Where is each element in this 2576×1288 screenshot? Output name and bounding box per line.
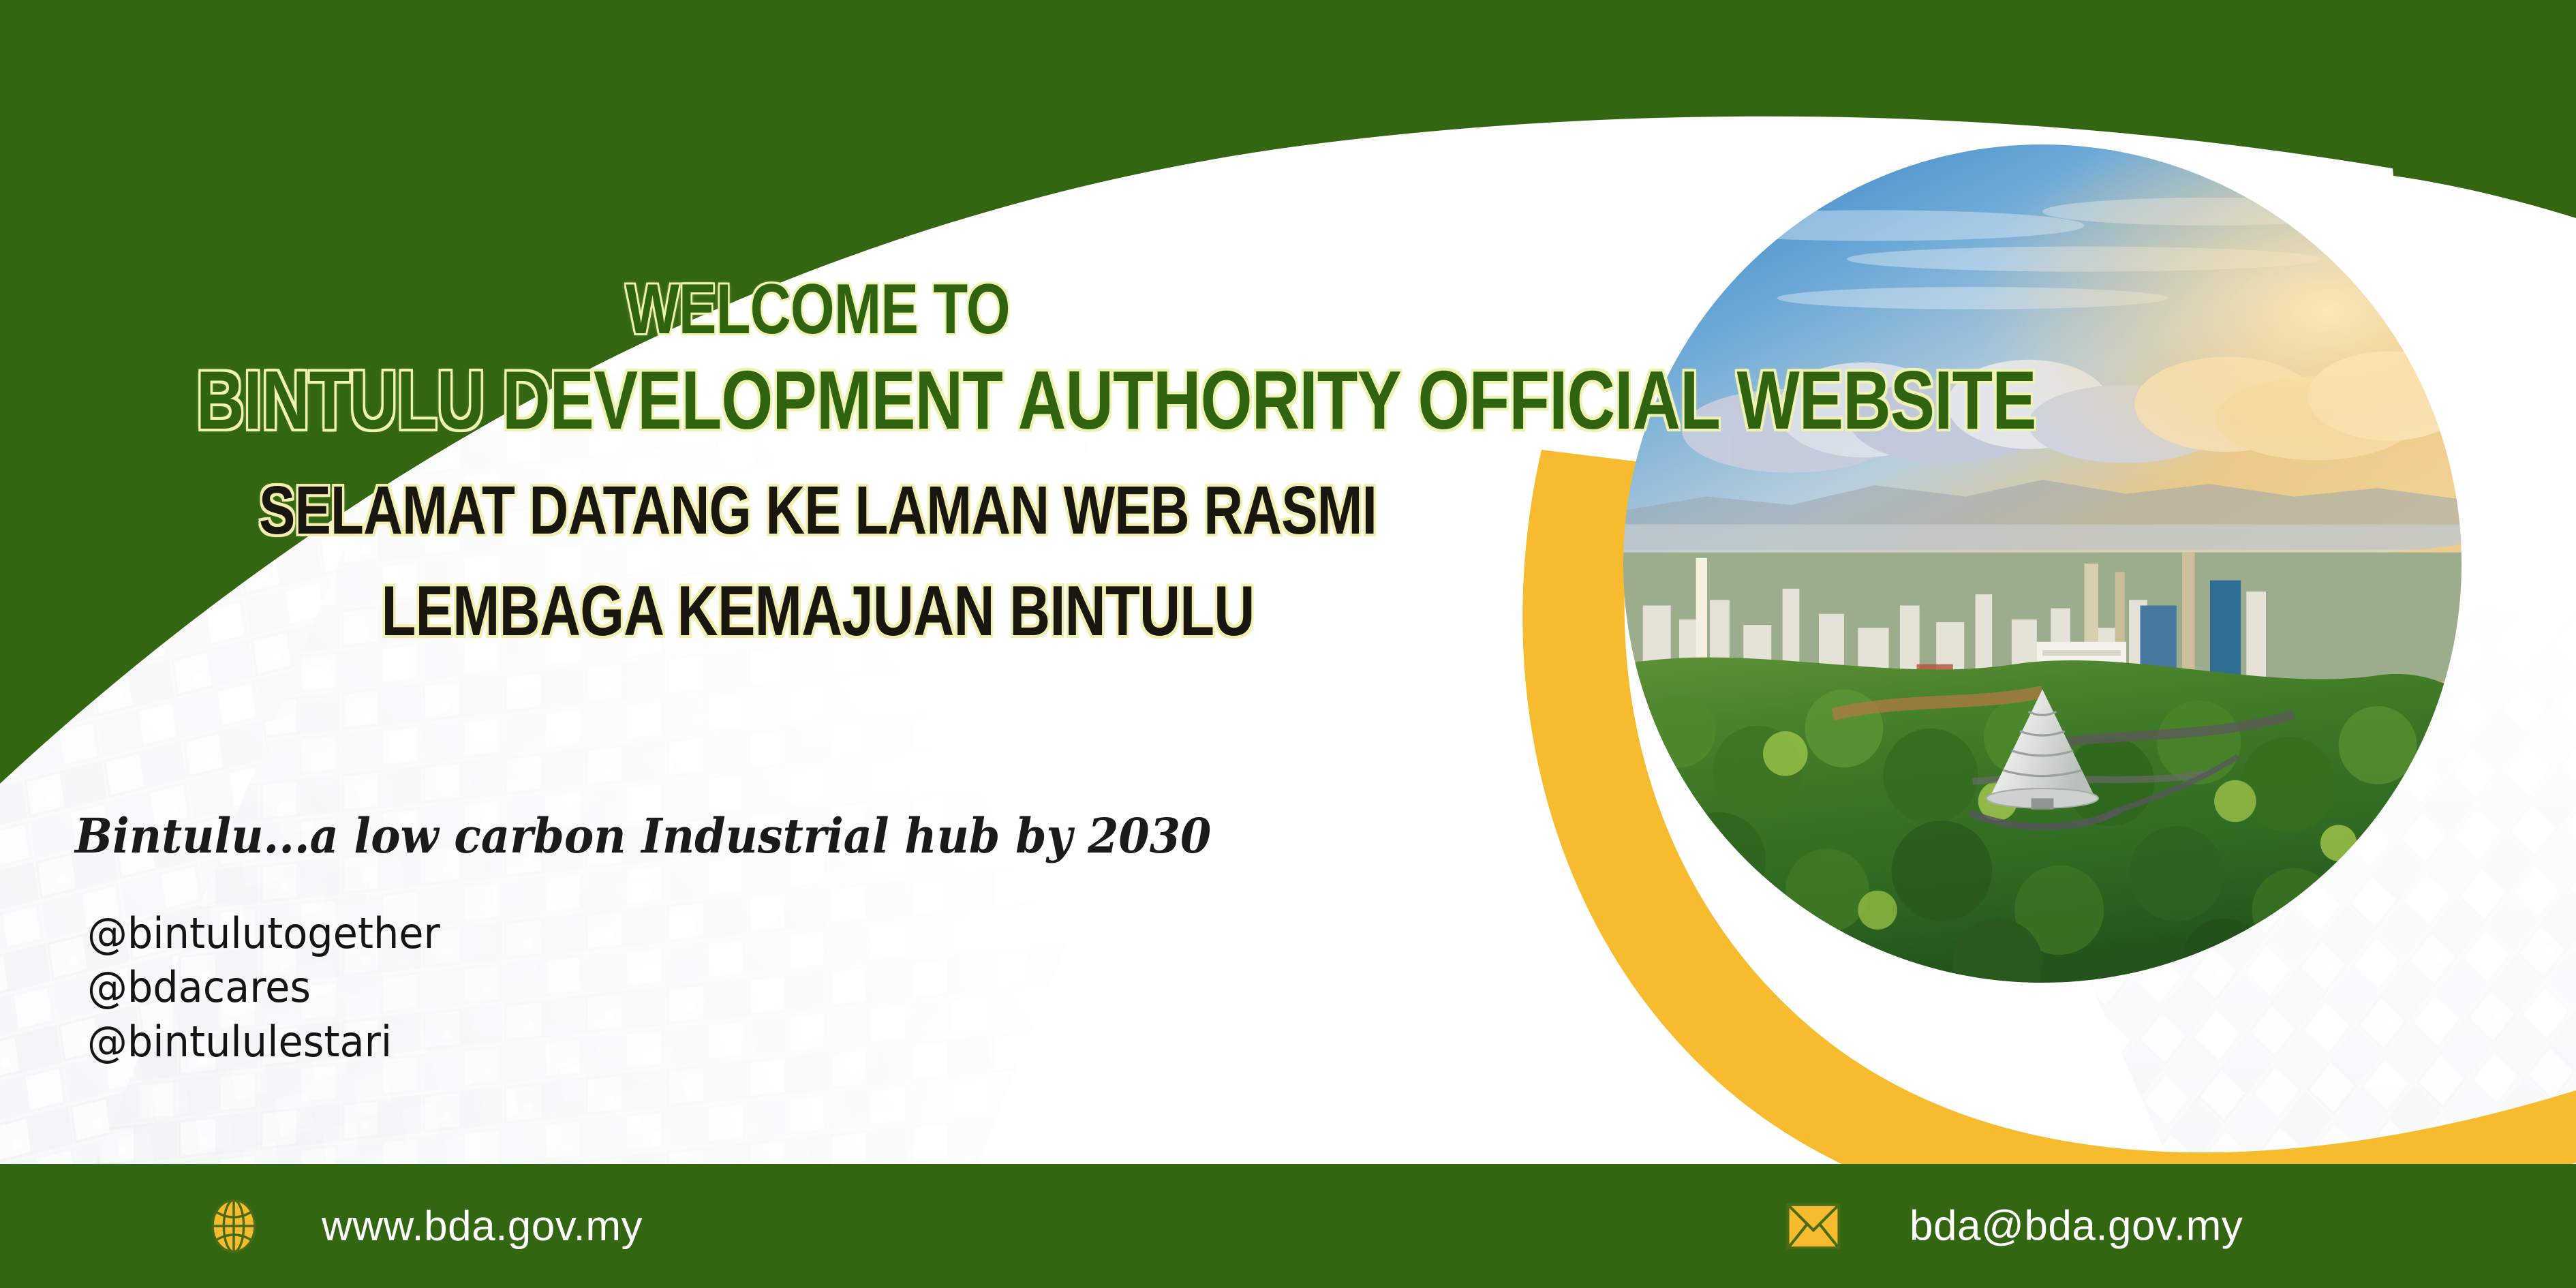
social-handle: @bdacares xyxy=(87,960,440,1014)
website-contact[interactable]: www.bda.gov.my xyxy=(204,1197,643,1255)
headline-block: WELCOME TO BINTULU DEVELOPMENT AUTHORITY… xyxy=(41,273,1595,648)
envelope-icon xyxy=(1785,1202,1841,1250)
social-handle: @bintululestari xyxy=(87,1015,440,1069)
email-contact[interactable]: bda@bda.gov.my xyxy=(1785,1202,2243,1251)
headline-org-malay: LEMBAGA KEMAJUAN BINTULU xyxy=(196,574,1439,648)
globe-icon xyxy=(204,1197,263,1255)
bintulu-aerial-cityscape-photo xyxy=(1623,144,2462,983)
bda-welcome-banner: WELCOME TO BINTULU DEVELOPMENT AUTHORITY… xyxy=(0,0,2576,1288)
headline-org-english: BINTULU DEVELOPMENT AUTHORITY OFFICIAL W… xyxy=(196,357,1439,444)
footer-bar: www.bda.gov.my bda@bda.gov.my xyxy=(0,1164,2576,1288)
email-label: bda@bda.gov.my xyxy=(1910,1202,2243,1251)
website-label: www.bda.gov.my xyxy=(322,1202,643,1251)
social-handle: @bintulutogether xyxy=(87,906,440,960)
headline-welcome-malay: SELAMAT DATANG KE LAMAN WEB RASMI xyxy=(196,475,1439,546)
tagline: Bintulu...a low carbon Industrial hub by… xyxy=(75,808,1211,864)
headline-welcome-to: WELCOME TO xyxy=(196,273,1439,346)
social-handles-list: @bintulutogether @bdacares @bintululesta… xyxy=(87,906,459,1069)
